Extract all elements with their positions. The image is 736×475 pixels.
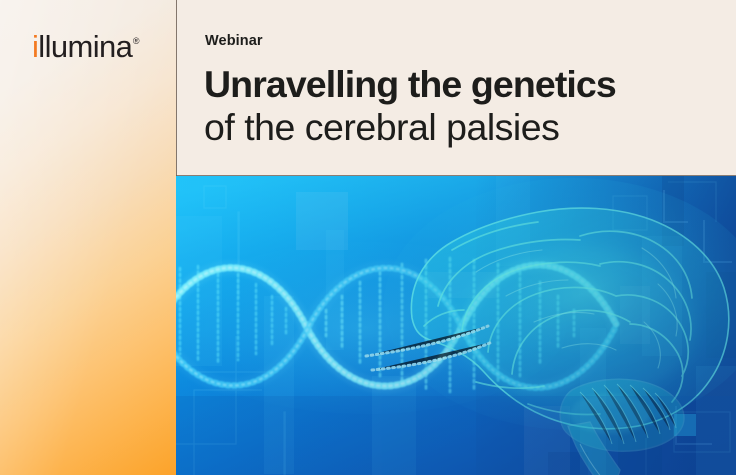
illumina-logo: illumina® — [32, 31, 139, 62]
page-title: Unravelling the genetics of the cerebral… — [204, 63, 724, 149]
hero-image — [176, 176, 736, 475]
headline-line-2: of the cerebral palsies — [204, 106, 724, 149]
registered-trademark-icon: ® — [133, 36, 140, 46]
brand-panel: illumina® — [0, 0, 176, 475]
header-area: Webinar Unravelling the genetics of the … — [177, 0, 736, 176]
hero-illustration — [176, 176, 736, 475]
logo-wordmark: llumina — [38, 29, 132, 64]
headline-line-1: Unravelling the genetics — [204, 63, 724, 106]
webinar-promo-card: illumina® Webinar Unravelling the geneti… — [0, 0, 736, 475]
eyebrow-label: Webinar — [205, 34, 263, 49]
brand-panel-sheen — [0, 0, 176, 475]
